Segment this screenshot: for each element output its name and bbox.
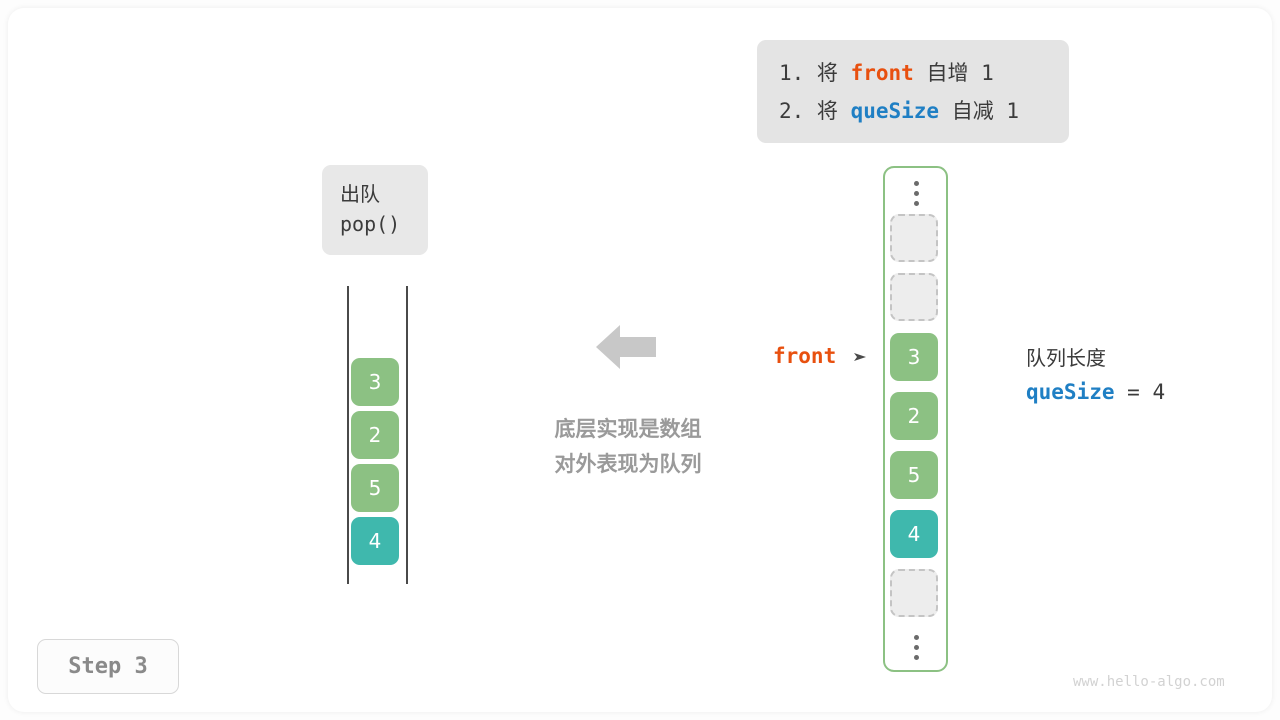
caption-line-2: 对外表现为队列 <box>528 447 728 482</box>
instruction-line-1: 1. 将 front 自增 1 <box>779 54 1047 92</box>
diagram-caption: 底层实现是数组 对外表现为队列 <box>528 412 728 482</box>
instruction-2-suffix: 自减 1 <box>939 99 1019 123</box>
step-badge: Step 3 <box>37 639 179 694</box>
queue-size-note-title: 队列长度 <box>1026 342 1165 374</box>
pop-operation-box: 出队 pop() <box>322 165 428 255</box>
queue-size-note: 队列长度 queSize = 4 <box>1026 342 1165 410</box>
quesize-variable: queSize <box>1026 380 1115 404</box>
array-slot-empty <box>890 214 938 262</box>
instruction-1-keyword: front <box>851 61 914 85</box>
queue-size-note-value: queSize = 4 <box>1026 374 1165 410</box>
array-slot: 4 <box>890 510 938 558</box>
front-pointer-arrow-icon <box>854 350 870 364</box>
queue-rail-left <box>347 286 349 584</box>
queue-rail-right <box>406 286 408 584</box>
diagram-canvas: 1. 将 front 自增 1 2. 将 queSize 自减 1 出队 pop… <box>0 0 1280 720</box>
queue-cell: 3 <box>351 358 399 406</box>
quesize-equals: = 4 <box>1115 380 1166 404</box>
instruction-box: 1. 将 front 自增 1 2. 将 queSize 自减 1 <box>757 40 1069 143</box>
array-ellipsis-bottom-icon <box>906 635 926 660</box>
array-slot-empty <box>890 273 938 321</box>
instruction-1-prefix: 1. 将 <box>779 61 851 85</box>
queue-cell: 2 <box>351 411 399 459</box>
instruction-2-keyword: queSize <box>851 99 940 123</box>
front-pointer-label: front <box>773 344 836 368</box>
caption-line-1: 底层实现是数组 <box>528 412 728 447</box>
pop-box-method: pop() <box>340 209 428 239</box>
pop-box-title: 出队 <box>340 179 428 209</box>
instruction-line-2: 2. 将 queSize 自减 1 <box>779 92 1047 130</box>
array-slot: 5 <box>890 451 938 499</box>
watermark: www.hello-algo.com <box>1073 674 1225 690</box>
instruction-2-prefix: 2. 将 <box>779 99 851 123</box>
instruction-1-suffix: 自增 1 <box>914 61 994 85</box>
queue-cell: 5 <box>351 464 399 512</box>
left-arrow-icon <box>596 322 656 372</box>
queue-cell: 4 <box>351 517 399 565</box>
array-slot: 3 <box>890 333 938 381</box>
array-slot: 2 <box>890 392 938 440</box>
array-ellipsis-top-icon <box>906 181 926 206</box>
array-slot-empty <box>890 569 938 617</box>
